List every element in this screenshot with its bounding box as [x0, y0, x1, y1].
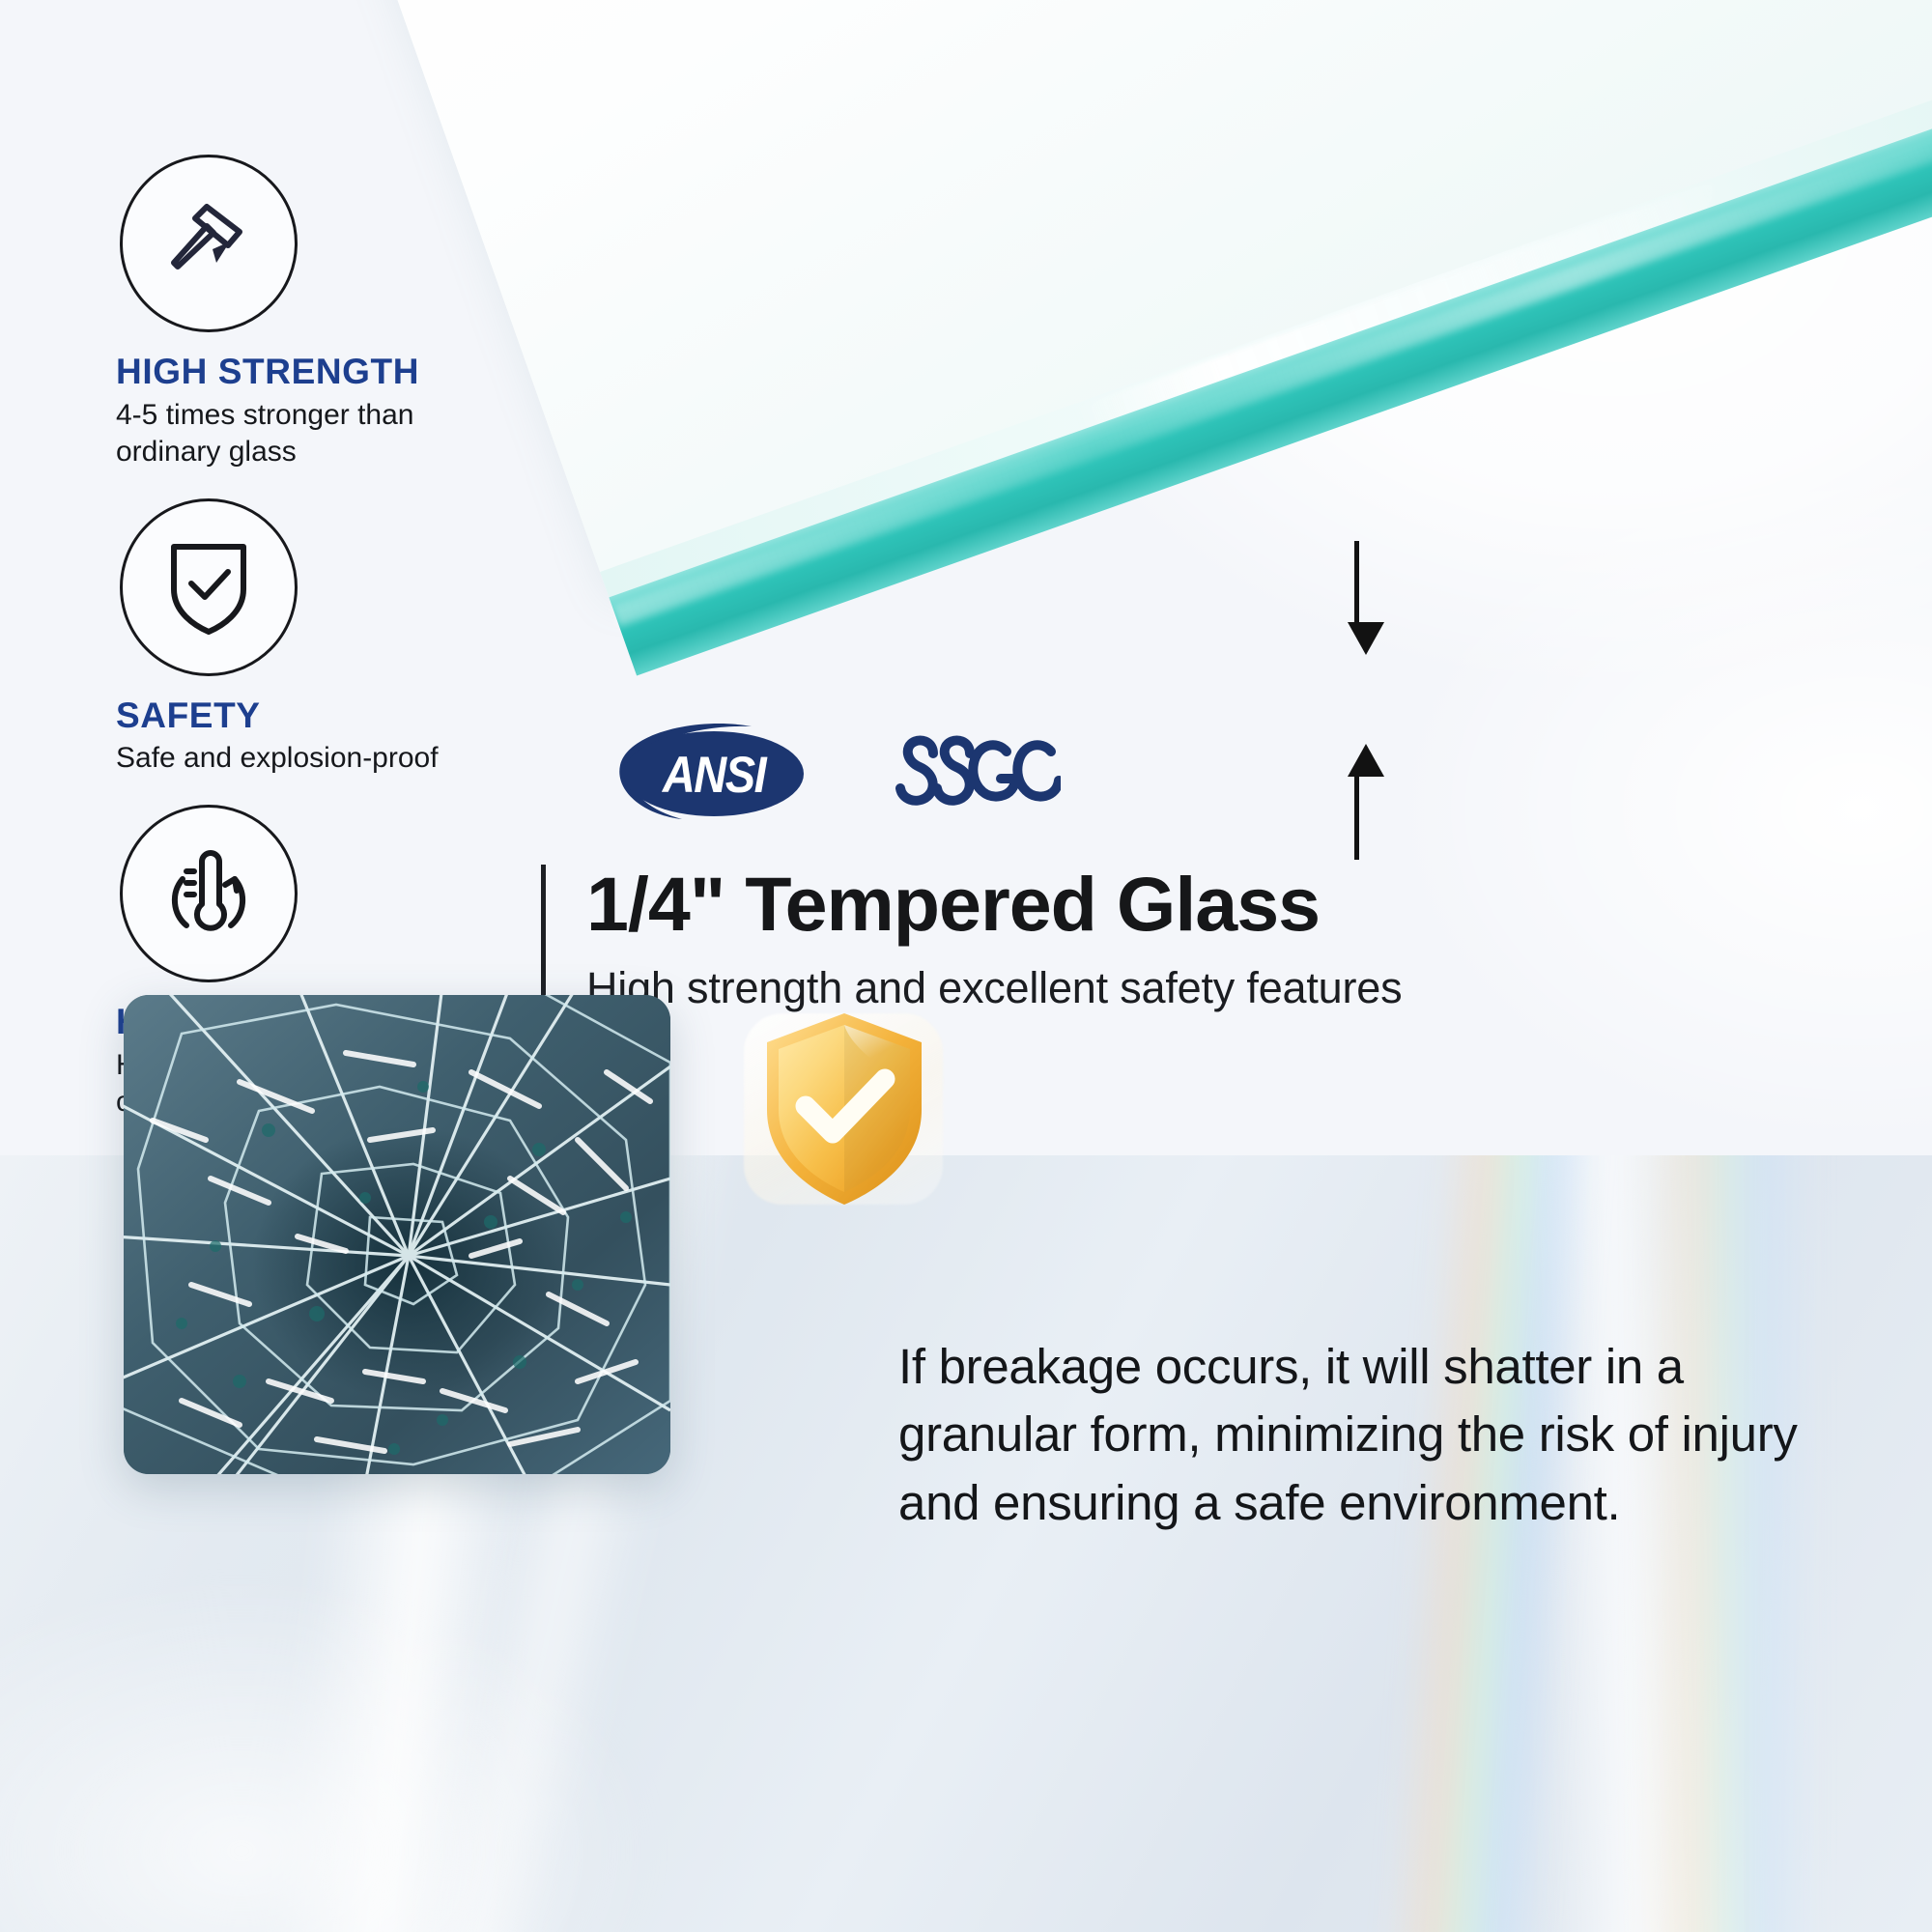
thermometer-rotate-icon [120, 805, 298, 982]
feature-title: HIGH STRENGTH [116, 354, 483, 391]
prism-rainbow-streak [1309, 1155, 1932, 1932]
infographic-page: HIGH STRENGTH 4-5 times stronger than or… [0, 0, 1932, 1932]
sgcc-logo [889, 724, 1061, 822]
prism-rainbow-streak [1062, 1155, 1932, 1932]
arrow-up-icon [1348, 744, 1384, 860]
shatter-description: If breakage occurs, it will shatter in a… [898, 1333, 1826, 1537]
page-subtitle: High strength and excellent safety featu… [586, 963, 1402, 1013]
tempered-glass-photo [319, 0, 1932, 889]
arrow-down-icon [1348, 541, 1384, 655]
feature-description: 4-5 times stronger than ordinary glass [116, 397, 454, 471]
feature-title: SAFETY [116, 697, 483, 735]
certification-logos: ANSI [607, 723, 1061, 823]
feature-item-safety: SAFETY Safe and explosion-proof [116, 498, 483, 778]
shield-check-icon [120, 498, 298, 676]
top-panel: HIGH STRENGTH 4-5 times stronger than or… [0, 0, 1932, 1155]
feature-item-high-strength: HIGH STRENGTH 4-5 times stronger than or… [116, 155, 483, 471]
gold-shield-check-icon [734, 1000, 952, 1222]
ansi-logo-text: ANSI [663, 749, 765, 800]
page-title: 1/4" Tempered Glass [586, 865, 1402, 944]
hammer-icon [120, 155, 298, 332]
ansi-logo: ANSI [607, 723, 815, 823]
feature-description: Safe and explosion-proof [116, 740, 454, 777]
shattered-glass-image [124, 995, 670, 1474]
